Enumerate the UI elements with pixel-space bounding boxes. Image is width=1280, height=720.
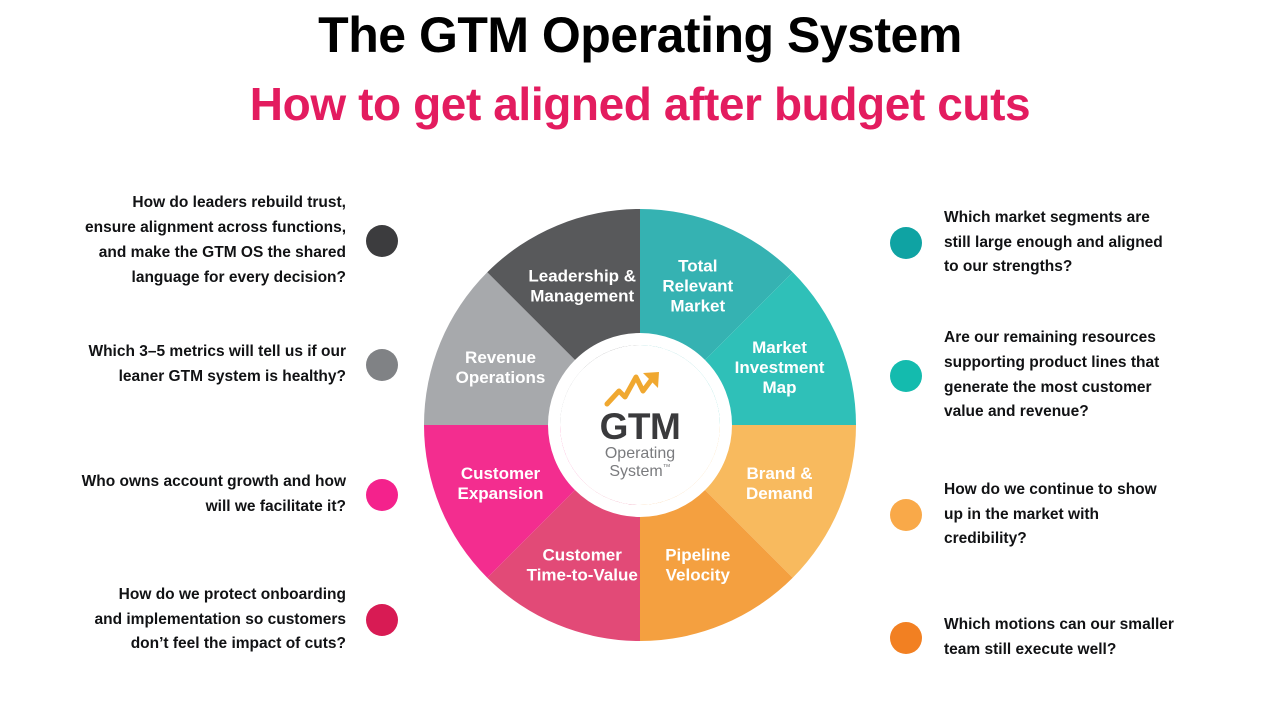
callout-line: and make the GTM OS the shared bbox=[0, 241, 346, 266]
callout-text: How do we protect onboardingand implemen… bbox=[0, 583, 366, 657]
callout-line: Are our remaining resources bbox=[944, 326, 1280, 351]
callout-line: don’t feel the impact of cuts? bbox=[0, 632, 346, 657]
wheel-label-line: Brand & bbox=[746, 464, 812, 483]
wheel-label-line: Revenue bbox=[465, 348, 536, 367]
callout-line: ensure alignment across functions, bbox=[0, 216, 346, 241]
callout-line: supporting product lines that bbox=[944, 351, 1280, 376]
callouts-right-column: Which market segments arestill large eno… bbox=[870, 182, 1280, 693]
callout-pipeline-velocity-question: Which motions can our smallerteam still … bbox=[870, 583, 1280, 693]
callout-customer-expansion-question: Who owns account growth and howwill we f… bbox=[0, 430, 420, 560]
callout-line: How do we continue to show bbox=[944, 478, 1280, 503]
page-title: The GTM Operating System bbox=[0, 6, 1280, 65]
bullet-dot-icon bbox=[890, 360, 922, 392]
bullet-dot-icon bbox=[366, 479, 398, 511]
callout-customer-time-to-value-question: How do we protect onboardingand implemen… bbox=[0, 560, 420, 680]
callout-line: Who owns account growth and how bbox=[0, 470, 346, 495]
growth-arrow-icon bbox=[603, 369, 677, 409]
callouts-left-column: How do leaders rebuild trust,ensure alig… bbox=[0, 182, 420, 680]
wheel-label-line: Customer bbox=[543, 546, 623, 565]
callout-line: How do leaders rebuild trust, bbox=[0, 191, 346, 216]
wheel-label-line: Market bbox=[752, 338, 807, 357]
center-logo: GTM Operating System™ bbox=[562, 347, 718, 503]
wheel-label-customer-expansion: CustomerExpansion bbox=[458, 464, 544, 503]
wheel-label-line: Total bbox=[678, 256, 717, 275]
callout-market-investment-map-question: Are our remaining resourcessupporting pr… bbox=[870, 304, 1280, 447]
wheel-label-line: Demand bbox=[746, 484, 813, 503]
callout-text: Who owns account growth and howwill we f… bbox=[0, 470, 366, 520]
wheel-label-line: Expansion bbox=[458, 484, 544, 503]
wheel-label-line: Time-to-Value bbox=[527, 566, 638, 585]
callout-line: up in the market with bbox=[944, 503, 1280, 528]
wheel-label-brand-and-demand: Brand &Demand bbox=[746, 464, 813, 503]
callout-line: Which 3–5 metrics will tell us if our bbox=[0, 340, 346, 365]
callout-line: Which market segments are bbox=[944, 206, 1280, 231]
gtm-operating-system-wheel: TotalRelevantMarketMarketInvestmentMapBr… bbox=[424, 209, 856, 641]
callout-line: How do we protect onboarding bbox=[0, 583, 346, 608]
wheel-label-customer-time-to-value: CustomerTime-to-Value bbox=[527, 546, 638, 585]
bullet-dot-icon bbox=[366, 349, 398, 381]
wheel-label-line: Operations bbox=[456, 368, 546, 387]
callout-line: to our strengths? bbox=[944, 255, 1280, 280]
callout-text: How do leaders rebuild trust,ensure alig… bbox=[0, 191, 366, 290]
logo-system-text: System bbox=[609, 463, 662, 480]
callout-line: will we facilitate it? bbox=[0, 495, 346, 520]
page-subtitle: How to get aligned after budget cuts bbox=[0, 77, 1280, 132]
trademark-symbol: ™ bbox=[663, 463, 671, 472]
bullet-dot-icon bbox=[890, 622, 922, 654]
callout-total-relevant-market-question: Which market segments arestill large eno… bbox=[870, 182, 1280, 304]
logo-subline-operating: Operating bbox=[605, 445, 675, 463]
callout-line: language for every decision? bbox=[0, 266, 346, 291]
wheel-label-line: Pipeline bbox=[665, 546, 730, 565]
callout-line: generate the most customer bbox=[944, 376, 1280, 401]
wheel-label-line: Market bbox=[670, 296, 725, 315]
logo-wordmark: GTM bbox=[600, 408, 681, 445]
bullet-dot-icon bbox=[890, 499, 922, 531]
wheel-label-line: Map bbox=[763, 378, 797, 397]
wheel-label-revenue-operations: RevenueOperations bbox=[456, 348, 546, 387]
callout-line: value and revenue? bbox=[944, 400, 1280, 425]
title-block: The GTM Operating System How to get alig… bbox=[0, 6, 1280, 132]
callout-brand-and-demand-question: How do we continue to showup in the mark… bbox=[870, 447, 1280, 583]
wheel-label-line: Leadership & bbox=[528, 266, 636, 285]
wheel-label-line: Investment bbox=[735, 358, 825, 377]
callout-line: still large enough and aligned bbox=[944, 231, 1280, 256]
callout-leadership-question: How do leaders rebuild trust,ensure alig… bbox=[0, 182, 420, 300]
callout-text: Are our remaining resourcessupporting pr… bbox=[922, 326, 1280, 425]
callout-line: Which motions can our smaller bbox=[944, 613, 1280, 638]
callout-line: and implementation so customers bbox=[0, 608, 346, 633]
callout-line: leaner GTM system is healthy? bbox=[0, 365, 346, 390]
bullet-dot-icon bbox=[890, 227, 922, 259]
bullet-dot-icon bbox=[366, 604, 398, 636]
callout-text: How do we continue to showup in the mark… bbox=[922, 478, 1280, 552]
wheel-label-line: Management bbox=[530, 286, 634, 305]
wheel-label-pipeline-velocity: PipelineVelocity bbox=[665, 546, 730, 585]
callout-line: team still execute well? bbox=[944, 638, 1280, 663]
wheel-label-leadership-and-management: Leadership &Management bbox=[528, 266, 636, 305]
callout-line: credibility? bbox=[944, 527, 1280, 552]
bullet-dot-icon bbox=[366, 225, 398, 257]
slide-canvas: The GTM Operating System How to get alig… bbox=[0, 0, 1280, 720]
callout-text: Which 3–5 metrics will tell us if ourlea… bbox=[0, 340, 366, 390]
wheel-label-line: Velocity bbox=[666, 566, 731, 585]
callout-revops-question: Which 3–5 metrics will tell us if ourlea… bbox=[0, 300, 420, 430]
callout-text: Which market segments arestill large eno… bbox=[922, 206, 1280, 280]
callout-text: Which motions can our smallerteam still … bbox=[922, 613, 1280, 663]
wheel-label-line: Relevant bbox=[662, 276, 733, 295]
logo-subline-system: System™ bbox=[609, 463, 670, 481]
wheel-label-line: Customer bbox=[461, 464, 541, 483]
